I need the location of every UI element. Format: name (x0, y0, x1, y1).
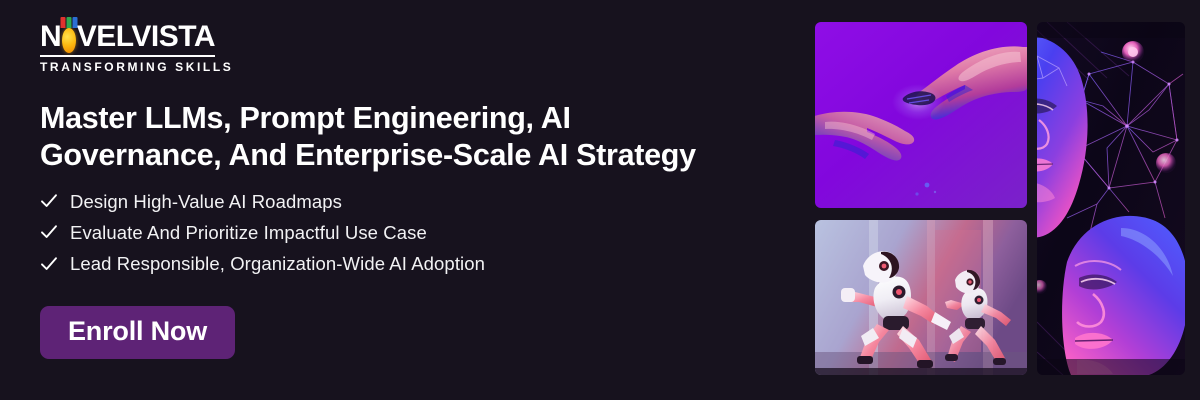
hands-reaching-image (815, 22, 1027, 208)
logo-name-part2: VELVISTA (77, 22, 215, 52)
check-icon (40, 255, 58, 273)
list-item-label: Evaluate And Prioritize Impactful Use Ca… (70, 221, 427, 244)
running-robots-image (815, 220, 1027, 375)
logo-divider (40, 55, 215, 57)
novelvista-logo[interactable]: N VELVISTA TRANSFORMING SKILLS (40, 22, 215, 74)
check-icon (40, 192, 58, 210)
headline-line-2: Governance, And Enterprise-Scale AI Stra… (40, 138, 696, 172)
benefits-list: Design High-Value AI Roadmaps Evaluate A… (40, 190, 810, 275)
list-item-label: Lead Responsible, Organization-Wide AI A… (70, 252, 485, 275)
logo-wordmark: N VELVISTA (40, 22, 215, 52)
check-icon (40, 223, 58, 241)
ai-heads-network-image (1037, 22, 1185, 375)
list-item: Lead Responsible, Organization-Wide AI A… (40, 252, 810, 275)
flag-blue (72, 17, 77, 28)
banner-content: N VELVISTA TRANSFORMING SKILLS Master LL… (40, 22, 810, 378)
enroll-now-button[interactable]: Enroll Now (40, 306, 235, 358)
headline-line-1: Master LLMs, Prompt Engineering, AI (40, 101, 571, 135)
logo-sun-icon (62, 28, 76, 53)
list-item: Evaluate And Prioritize Impactful Use Ca… (40, 221, 810, 244)
list-item-label: Design High-Value AI Roadmaps (70, 190, 342, 213)
flag-red (60, 17, 65, 28)
promo-banner: N VELVISTA TRANSFORMING SKILLS Master LL… (0, 0, 1200, 400)
image-collage (815, 22, 1185, 375)
logo-name-part1: N (40, 22, 61, 52)
logo-tagline: TRANSFORMING SKILLS (40, 60, 215, 74)
page-title: Master LLMs, Prompt Engineering, AI Gove… (40, 100, 810, 174)
list-item: Design High-Value AI Roadmaps (40, 190, 810, 213)
logo-color-flags-icon (60, 17, 77, 28)
flag-green (66, 17, 71, 28)
